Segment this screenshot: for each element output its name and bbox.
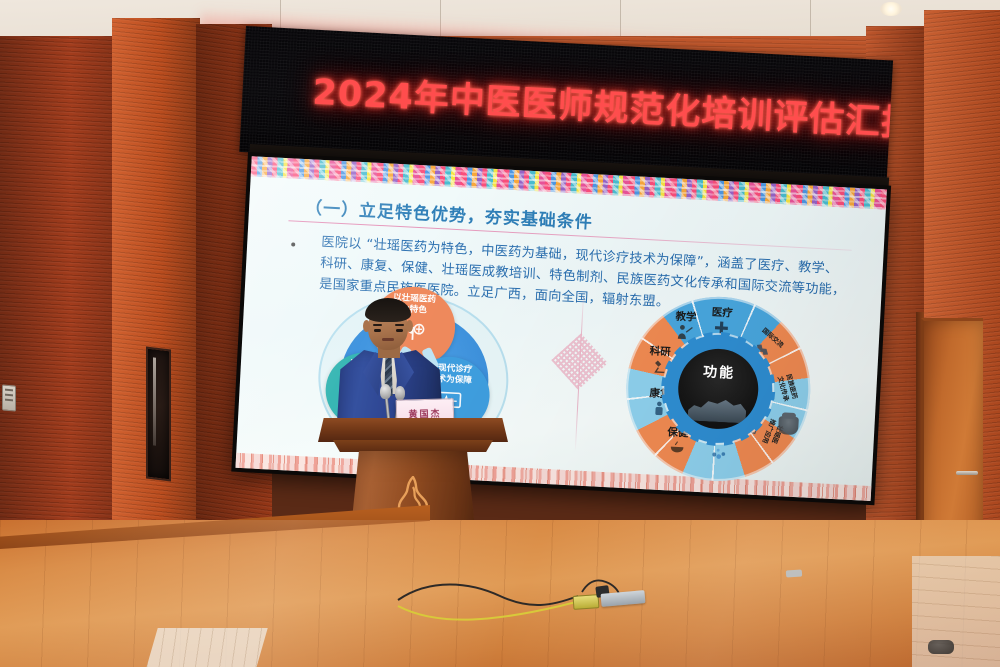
floor-marker — [786, 569, 802, 577]
stage-floor — [0, 520, 1000, 667]
wheel-center-label: 功能 — [703, 361, 736, 383]
flask-icon — [710, 444, 729, 461]
microphone-icon — [380, 384, 391, 399]
segment-label: 教学 — [675, 311, 697, 324]
segment-label: 医疗 — [711, 306, 733, 319]
mouth — [382, 338, 394, 341]
lectern-top — [318, 418, 508, 442]
door-handle-icon[interactable] — [956, 471, 978, 475]
screenshot-root: 2024年中医医师规范化培训评估汇报会 （一）立足特色优势，夯实基础条件 医院以… — [0, 0, 1000, 667]
eye-left — [374, 329, 381, 332]
eyebrow-right — [395, 324, 404, 326]
eye-right — [396, 329, 403, 332]
bullet-icon — [291, 242, 295, 246]
floor-tile-strip-right — [912, 556, 1000, 667]
chinese-knot-icon — [551, 333, 607, 389]
slide-heading: （一）立足特色优势，夯实基础条件 — [305, 193, 594, 233]
ear-right — [406, 320, 413, 332]
ceiling-light — [880, 2, 902, 16]
hair — [365, 298, 411, 322]
wall-control-panel[interactable] — [2, 384, 16, 411]
bowl-icon — [668, 439, 687, 456]
hospital-building-image — [688, 394, 747, 423]
eyebrow-left — [373, 324, 382, 326]
functions-wheel-diagram: 医疗 国际交流 民族医药 文化传承 壮瑶医 推广应用 制剂研发 — [622, 292, 815, 485]
segment-label: 科研 — [649, 345, 671, 358]
floor-power-box[interactable] — [573, 594, 600, 610]
ear-left — [363, 320, 370, 332]
floor-object — [928, 640, 954, 654]
microphone-icon-secondary — [395, 386, 405, 400]
lectern-lip — [326, 440, 500, 452]
wall-recess-niche — [146, 346, 171, 481]
mortar-graphic-icon — [778, 416, 799, 435]
floor-tile-strip — [146, 628, 267, 667]
